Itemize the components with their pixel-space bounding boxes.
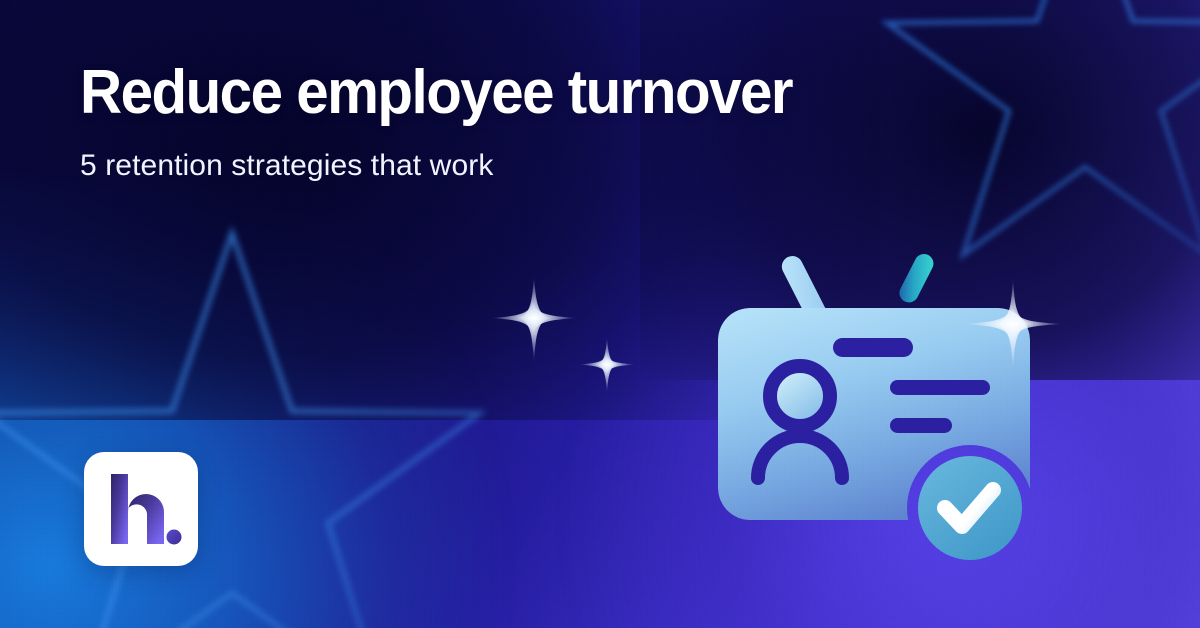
badge-clip [833,338,913,357]
card-text-line-long [890,380,990,395]
verified-check-badge [918,456,1022,560]
employee-id-badge-illustration [700,238,1100,578]
lanyard-accent-strap [896,251,937,306]
homebase-h-logo-icon [84,452,198,566]
card-text-line-short [890,418,952,433]
brand-logo-tile [84,452,198,566]
page-subtitle: 5 retention strategies that work [80,148,493,184]
promo-banner: Reduce employee turnover 5 retention str… [0,0,1200,628]
page-title: Reduce employee turnover [80,62,792,124]
